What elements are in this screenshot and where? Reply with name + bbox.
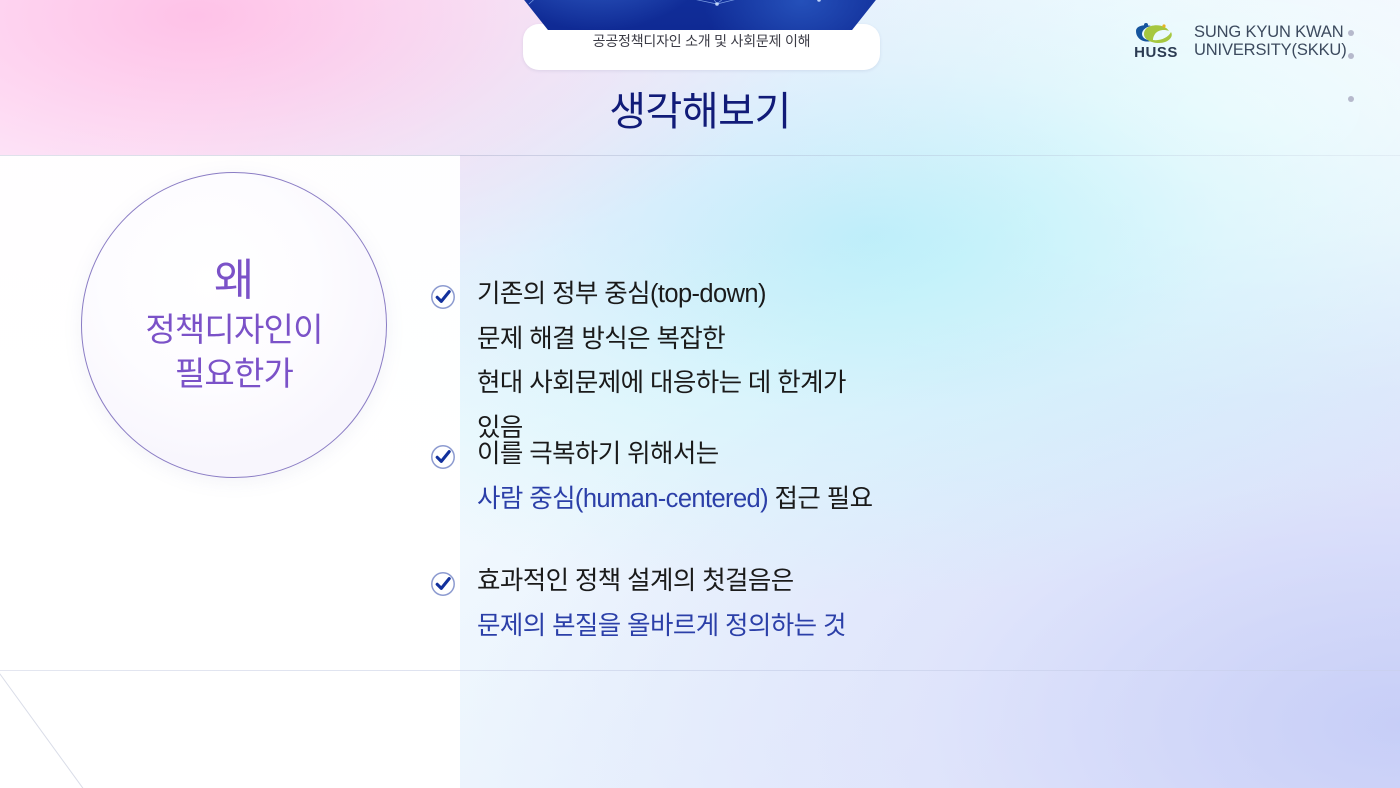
skku-huss-logo: HUSS SUNG KYUN KWAN UNIVERSITY(SKKU) [1128,22,1347,60]
bullet-2-line-2-accent: 사람 중심(human-centered) [477,485,768,513]
check-circle-icon [430,444,456,470]
bullet-1-line-2: 문제 해결 방식은 복잡한 [477,325,725,353]
dot-2 [1348,53,1354,59]
list-item: 효과적인 정책 설계의 첫걸음은문제의 본질을 올바르게 정의하는 것 [430,559,1190,648]
bullet-1-line-3: 현대 사회문제에 대응하는 데 한계가 [477,369,846,397]
slide-root: 공공정책디자인 소개 및 사회문제 이해 [0,0,1400,788]
university-name: SUNG KYUN KWAN UNIVERSITY(SKKU) [1194,23,1347,60]
circle-line-1: 왜 [214,254,254,308]
header-subtitle-text: 공공정책디자인 소개 및 사회문제 이해 [523,32,880,51]
bullet-1-line-1: 기존의 정부 중심(top-down) [477,280,766,308]
list-item: 이를 극복하기 위해서는사람 중심(human-centered) 접근 필요 [430,432,1190,521]
list-item-text: 기존의 정부 중심(top-down)문제 해결 방식은 복잡한현대 사회문제에… [477,272,846,450]
huss-wordmark: HUSS [1134,45,1178,60]
university-name-line1: SUNG KYUN KWAN [1194,23,1347,42]
university-name-line2: UNIVERSITY(SKKU) [1194,41,1347,60]
huss-emblem-icon [1130,22,1182,44]
bullet-2-line-1: 이를 극복하기 위해서는 [477,440,719,468]
check-circle-icon [430,284,456,310]
dot-1 [1348,30,1354,36]
list-item: 기존의 정부 중심(top-down)문제 해결 방식은 복잡한현대 사회문제에… [430,272,1190,450]
header-banner [519,0,881,30]
huss-logo-mark: HUSS [1128,22,1184,60]
bullet-3-line-2-accent: 문제의 본질을 올바르게 정의하는 것 [477,612,846,640]
footer-divider [0,670,1400,671]
network-pattern-icon [519,0,881,30]
bullet-list: 기존의 정부 중심(top-down)문제 해결 방식은 복잡한현대 사회문제에… [430,272,1190,648]
check-circle-icon [430,571,456,597]
why-policy-design-circle: 왜 정책디자인이 필요한가 [81,172,387,478]
bullet-3-line-1: 효과적인 정책 설계의 첫걸음은 [477,567,794,595]
list-item-text: 이를 극복하기 위해서는사람 중심(human-centered) 접근 필요 [477,432,872,521]
list-item-text: 효과적인 정책 설계의 첫걸음은문제의 본질을 올바르게 정의하는 것 [477,559,846,648]
header-divider [0,155,1400,156]
page-title: 생각해보기 [0,88,1400,136]
bullet-2-line-2-rest: 접근 필요 [768,485,872,513]
circle-line-3: 필요한가 [175,352,293,396]
circle-line-2: 정책디자인이 [145,308,322,352]
